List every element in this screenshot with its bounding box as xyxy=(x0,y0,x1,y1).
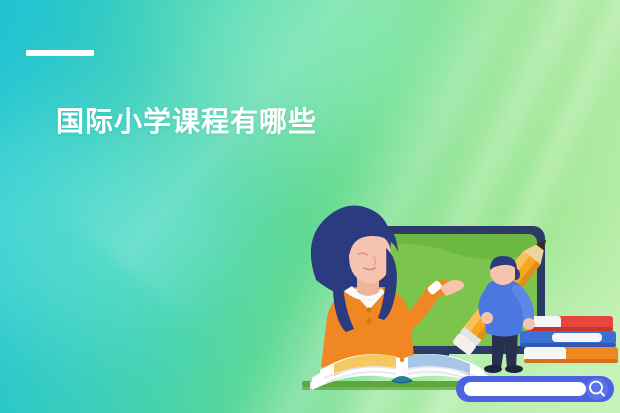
book-stack xyxy=(520,316,618,363)
light-streak-2 xyxy=(307,0,620,413)
list-item xyxy=(527,316,613,331)
page-title: 国际小学课程有哪些 xyxy=(56,103,317,141)
list-item xyxy=(520,331,616,347)
student-boy-figure xyxy=(452,233,555,373)
pencil-icon xyxy=(452,233,555,356)
search-input[interactable] xyxy=(464,382,586,396)
list-item xyxy=(524,347,618,363)
search-bar[interactable] xyxy=(456,376,614,402)
education-illustration xyxy=(0,0,620,413)
light-streak-1 xyxy=(218,0,606,413)
background-glow-left xyxy=(0,110,230,340)
shelf-bar xyxy=(302,381,502,390)
light-streak-lower xyxy=(306,171,620,413)
education-banner: 国际小学课程有哪些 xyxy=(0,0,620,413)
light-streak-3 xyxy=(380,0,620,413)
search-icon[interactable] xyxy=(586,378,608,400)
teacher-woman-figure xyxy=(311,206,464,373)
background-glow-bottom xyxy=(360,300,620,413)
light-streak-wide xyxy=(41,0,562,332)
open-book-icon xyxy=(310,354,494,390)
accent-rule xyxy=(26,50,94,56)
chalkboard-icon xyxy=(352,226,545,364)
